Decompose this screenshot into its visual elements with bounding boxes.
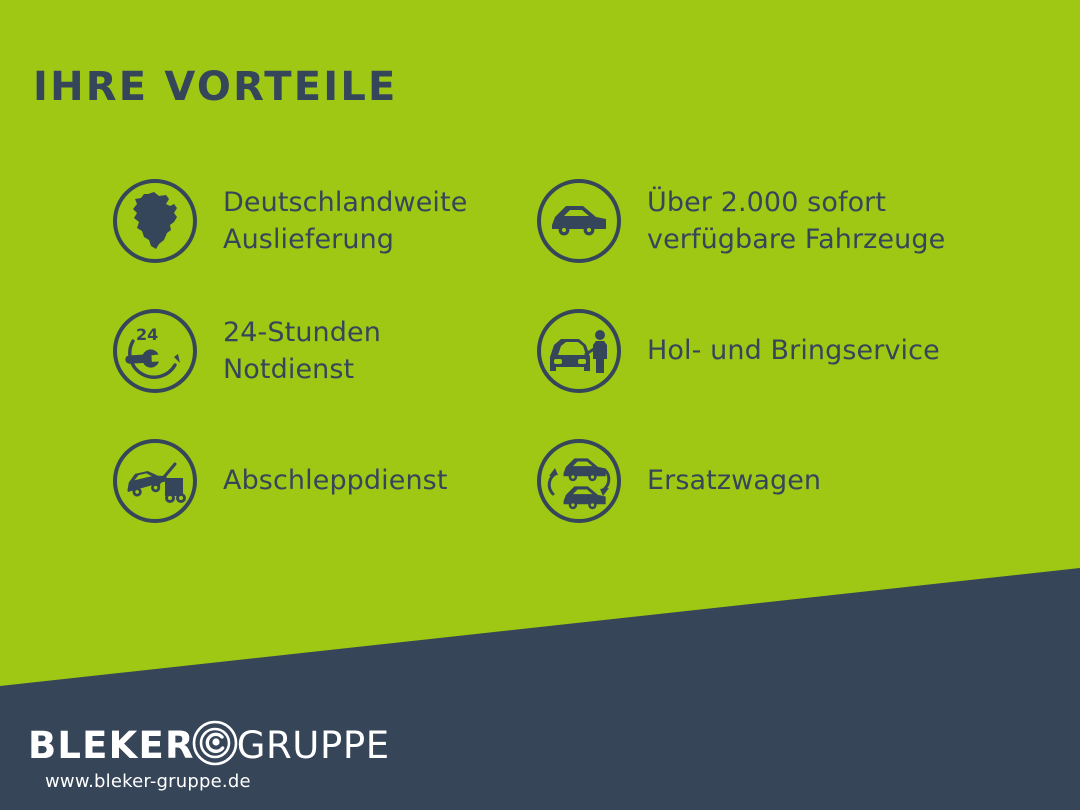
benefit-24-stunden-notdienst: 24 24-Stunden Notdienst (113, 286, 533, 416)
benefits-column-right: Über 2.000 sofort verfügbare Fahrzeuge (537, 156, 1007, 546)
benefits-column-left: Deutschlandweite Auslieferung 24 24-Stun… (113, 156, 533, 546)
benefit-label: Abschleppdienst (223, 462, 448, 499)
benefit-ersatzwagen: Ersatzwagen (537, 416, 1007, 546)
benefit-hol-und-bringservice: Hol- und Bringservice (537, 286, 1007, 416)
benefit-label: Hol- und Bringservice (647, 332, 940, 369)
benefit-deutschlandweite-auslieferung: Deutschlandweite Auslieferung (113, 156, 533, 286)
benefit-label: Deutschlandweite Auslieferung (223, 184, 467, 259)
germany-map-icon (113, 179, 197, 263)
benefit-label: Über 2.000 sofort verfügbare Fahrzeuge (647, 184, 945, 259)
slide-canvas: IHRE VORTEILE Deutschlandweite Ausliefer… (0, 0, 1080, 810)
two-cars-exchange-icon (537, 439, 621, 523)
24-hour-wrench-icon: 24 (113, 309, 197, 393)
benefit-abschleppdienst: Abschleppdienst (113, 416, 533, 546)
benefit-label: 24-Stunden Notdienst (223, 314, 381, 389)
car-side-icon (537, 179, 621, 263)
footer: BLEKER GRUPPE www.bleker-gruppe.de (28, 721, 448, 792)
page-title: IHRE VORTEILE (33, 64, 398, 110)
svg-text:24: 24 (136, 325, 158, 344)
benefit-verfuegbare-fahrzeuge: Über 2.000 sofort verfügbare Fahrzeuge (537, 156, 1007, 286)
logo-secondary-text: GRUPPE (237, 724, 390, 767)
car-with-person-icon (537, 309, 621, 393)
logo[interactable]: BLEKER GRUPPE (28, 721, 448, 769)
benefit-label: Ersatzwagen (647, 462, 821, 499)
tow-truck-icon (113, 439, 197, 523)
spiral-logo-icon (189, 718, 241, 772)
website-url[interactable]: www.bleker-gruppe.de (45, 771, 448, 792)
logo-primary-text: BLEKER (28, 724, 195, 767)
